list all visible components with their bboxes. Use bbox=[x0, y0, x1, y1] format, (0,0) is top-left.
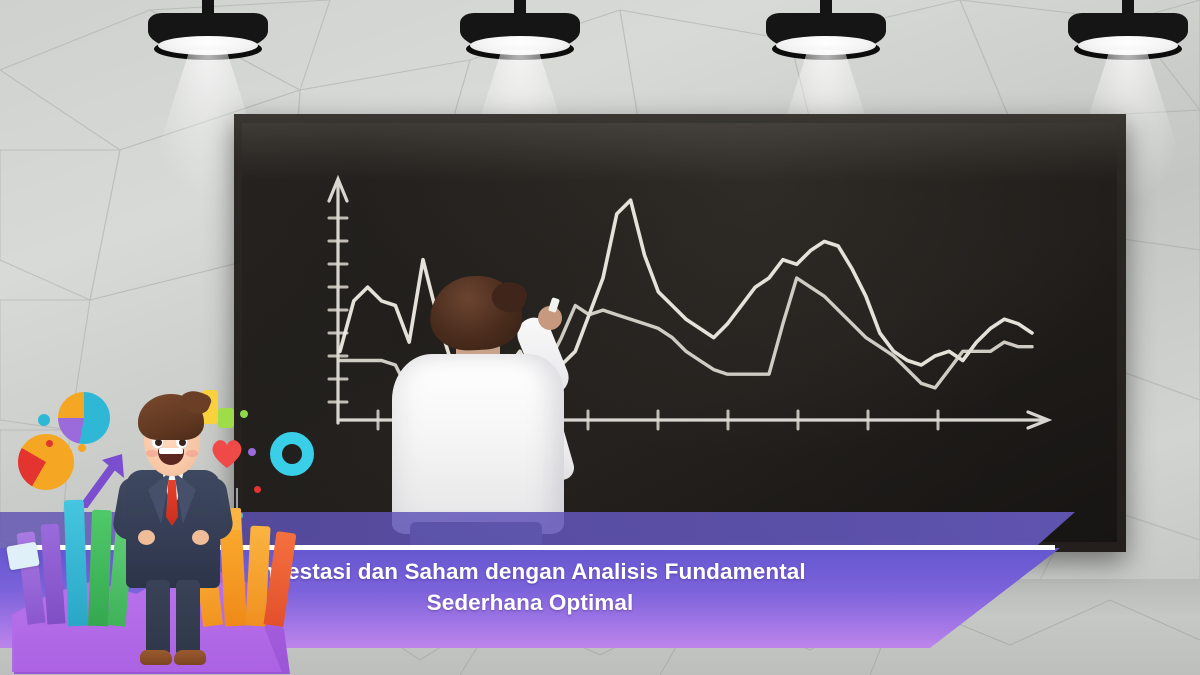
character-leg-left bbox=[146, 580, 170, 656]
slide-canvas: Investasi dan Saham dengan Analisis Fund… bbox=[0, 0, 1200, 675]
pendant-lamp-3 bbox=[766, 0, 886, 64]
dot-purple bbox=[248, 448, 256, 456]
pendant-lamp-2 bbox=[460, 0, 580, 64]
dot-red-2 bbox=[254, 486, 261, 493]
mini-report-card-icon bbox=[6, 542, 40, 571]
character-blush-right bbox=[186, 450, 198, 457]
pie-chart-cyan-icon bbox=[58, 392, 110, 444]
character-pupil-left bbox=[155, 439, 162, 446]
character-pupil-right bbox=[179, 439, 186, 446]
infographic-character-scene bbox=[0, 392, 330, 675]
donut-ring-icon bbox=[270, 432, 314, 476]
teacher-shirt bbox=[392, 354, 564, 534]
pendant-lamp-4 bbox=[1068, 0, 1188, 64]
businessman-character bbox=[118, 394, 228, 670]
bar-cyan-1 bbox=[64, 500, 88, 627]
character-blush-left bbox=[146, 450, 158, 457]
pendant-lamp-1 bbox=[148, 0, 268, 64]
chalk-line-chart bbox=[242, 123, 1117, 542]
chalkboard-surface bbox=[242, 123, 1117, 542]
chalkboard-frame bbox=[234, 114, 1126, 552]
character-hand-left bbox=[138, 530, 155, 545]
character-leg-right bbox=[176, 580, 200, 656]
dot-cyan bbox=[38, 414, 50, 426]
dot-red bbox=[46, 440, 53, 447]
character-shoe-left bbox=[140, 650, 172, 665]
character-teeth bbox=[159, 448, 183, 454]
character-shoe-right bbox=[174, 650, 206, 665]
dot-green bbox=[240, 410, 248, 418]
character-hand-right bbox=[192, 530, 209, 545]
